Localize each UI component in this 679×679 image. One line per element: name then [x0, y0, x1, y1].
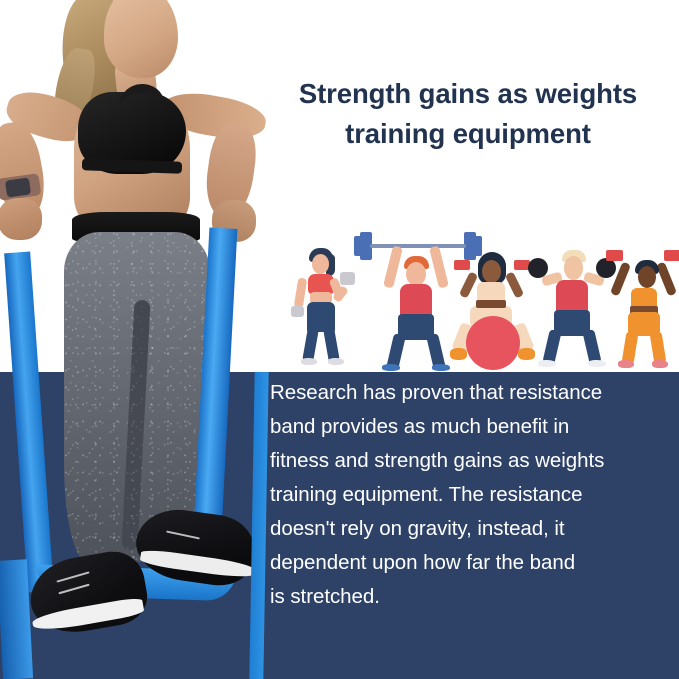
f1-dumbbell-left-icon — [291, 306, 304, 317]
body-line-1: Research has proven that resistance — [270, 376, 672, 410]
model-head — [104, 0, 178, 78]
product-marketing-image: Strength gains as weights training equip… — [0, 0, 679, 679]
body-line-6: dependent upon how far the band — [270, 546, 672, 580]
f4-head — [564, 256, 583, 280]
f3-right-arm — [505, 271, 524, 298]
f3-sports-top — [477, 282, 505, 302]
f1-left-shoe — [301, 358, 317, 365]
f5-right-shoe — [652, 360, 668, 368]
model-left-hand — [0, 198, 42, 240]
f5-left-arm — [610, 262, 631, 297]
body-line-3: fitness and strength gains as weights — [270, 444, 672, 478]
f2-left-shoe — [382, 364, 400, 371]
product-photo — [0, 0, 268, 679]
f3-left-shoe — [450, 348, 467, 360]
f2-left-arm — [383, 245, 403, 288]
f5-left-shoe — [618, 360, 634, 368]
f3-dumbbell-left-icon — [454, 260, 470, 270]
f5-dumbbell-right-icon — [664, 250, 679, 261]
f3-left-arm — [459, 271, 478, 298]
body-line-4: training equipment. The resistance — [270, 478, 672, 512]
f2-head — [406, 262, 426, 286]
f5-right-arm — [656, 262, 677, 297]
f1-left-arm — [294, 277, 308, 308]
body-line-7: is stretched. — [270, 580, 672, 614]
f4-tank-top — [556, 280, 588, 314]
headline-line-1: Strength gains as weights — [262, 74, 674, 114]
f1-head — [312, 254, 329, 274]
headline-line-2: training equipment — [262, 114, 674, 154]
f3-head — [482, 260, 501, 283]
f4-left-shoe — [538, 360, 556, 367]
f2-barbell-plate-left-outer — [354, 236, 362, 256]
figure-dumbbell-curl-woman — [282, 244, 364, 368]
description-text: Research has proven that resistance band… — [270, 376, 672, 614]
f5-head — [638, 266, 656, 288]
f5-dumbbell-left-icon — [606, 250, 623, 261]
body-line-5: doesn't rely on gravity, instead, it — [270, 512, 672, 546]
page-title: Strength gains as weights training equip… — [262, 74, 674, 153]
exercise-illustration-strip — [268, 222, 679, 372]
body-line-2: band provides as much benefit in — [270, 410, 672, 444]
f2-tank-top — [400, 284, 432, 318]
f4-dumbbell-left-icon — [528, 258, 548, 278]
figure-arms-raised-woman — [598, 236, 679, 370]
f3-waistband — [476, 300, 506, 308]
f1-dumbbell-right-icon — [340, 272, 355, 285]
f1-right-shoe — [328, 358, 344, 365]
watch-face — [5, 177, 31, 197]
f3-exercise-ball — [466, 316, 520, 370]
